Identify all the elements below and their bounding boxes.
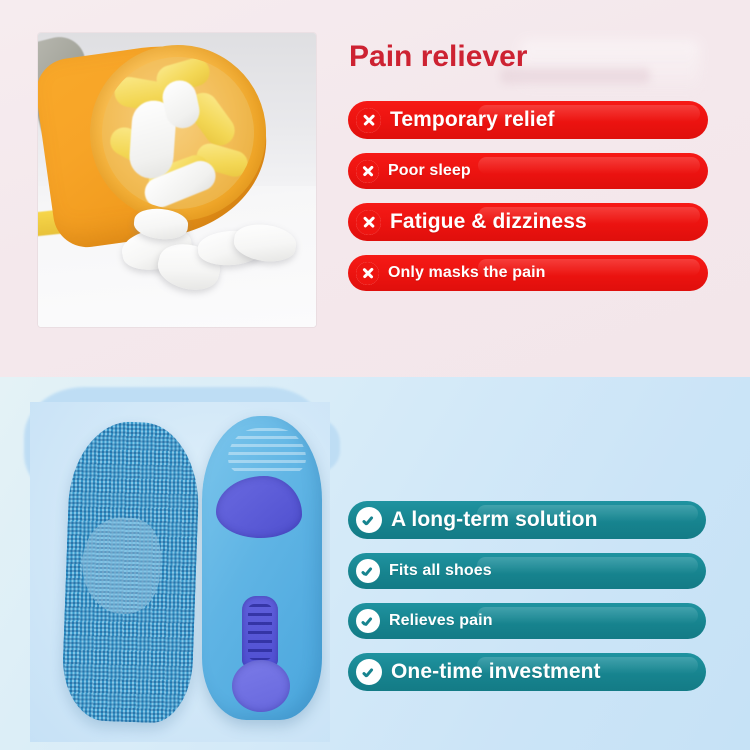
list-item-label: Fatigue & dizziness: [390, 210, 587, 234]
insole-heel-ridges: [228, 428, 306, 474]
page-title: Pain reliever: [349, 40, 527, 74]
check-circle-icon: [356, 609, 380, 633]
list-item-label: Fits all shoes: [389, 562, 492, 580]
list-item[interactable]: Fits all shoes: [348, 553, 706, 589]
list-item-label: A long-term solution: [391, 508, 598, 532]
list-item[interactable]: One-time investment: [348, 653, 706, 691]
list-item[interactable]: Fatigue & dizziness: [348, 203, 708, 241]
list-item[interactable]: Only masks the pain: [348, 255, 708, 291]
insole-heel-gel-strip: [242, 596, 278, 668]
pill-bottle-photo: [38, 33, 316, 327]
list-item-label: Poor sleep: [388, 162, 471, 180]
list-item[interactable]: Temporary relief: [348, 101, 708, 139]
insoles-panel: A long-term solution Fits all shoes Reli…: [0, 377, 750, 750]
check-circle-icon: [356, 507, 382, 533]
insole-topside: [202, 416, 322, 720]
x-circle-icon: [356, 262, 379, 285]
insoles-photo: [30, 402, 330, 742]
list-item-label: One-time investment: [391, 660, 601, 684]
insole-arch-gel-pad: [216, 476, 302, 538]
check-circle-icon: [356, 659, 382, 685]
pill-sheen: [477, 557, 698, 574]
list-item[interactable]: Relieves pain: [348, 603, 706, 639]
insole-underside: [61, 420, 201, 724]
insole-heel-gel-pad: [232, 660, 290, 712]
benefit-list: A long-term solution Fits all shoes Reli…: [348, 501, 706, 705]
list-item[interactable]: Poor sleep: [348, 153, 708, 189]
list-item-label: Relieves pain: [389, 612, 493, 630]
pill-sheen: [477, 607, 698, 624]
x-circle-icon: [356, 108, 381, 133]
list-item-label: Temporary relief: [390, 108, 555, 132]
pain-reliever-panel: Pain reliever Temporary relief Poor slee…: [0, 0, 750, 377]
comparison-graphic: Pain reliever Temporary relief Poor slee…: [0, 0, 750, 750]
list-item[interactable]: A long-term solution: [348, 501, 706, 539]
check-circle-icon: [356, 559, 380, 583]
list-item-label: Only masks the pain: [388, 264, 546, 282]
drawback-list: Temporary relief Poor sleep Fatigue & di…: [348, 101, 708, 305]
x-circle-icon: [356, 210, 381, 235]
pill-sheen: [478, 157, 700, 174]
x-circle-icon: [356, 160, 379, 183]
